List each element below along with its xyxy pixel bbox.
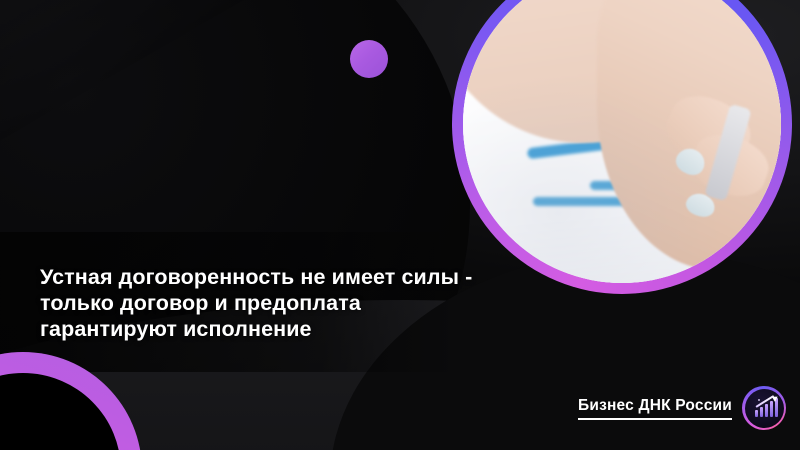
- logo-spark: [771, 396, 773, 398]
- brand-name-label: Бизнес ДНК России: [578, 397, 732, 420]
- brand-logo-badge[interactable]: [742, 386, 786, 430]
- logo-bar: [765, 404, 768, 417]
- logo-spark: [758, 399, 760, 401]
- growth-chart-icon: [745, 389, 784, 428]
- logo-bar: [770, 401, 773, 417]
- promo-card: Устная договоренность не имеет силы - то…: [0, 0, 800, 450]
- headline-text: Устная договоренность не имеет силы - то…: [40, 264, 600, 342]
- brand-lockup[interactable]: Бизнес ДНК России: [578, 386, 786, 430]
- photo-handshake-document: [463, 0, 781, 283]
- photo-shading: [463, 0, 781, 283]
- logo-bar: [755, 410, 758, 417]
- photo-circle-frame: [452, 0, 792, 294]
- logo-bar: [760, 407, 763, 417]
- decorative-dot: [350, 40, 388, 78]
